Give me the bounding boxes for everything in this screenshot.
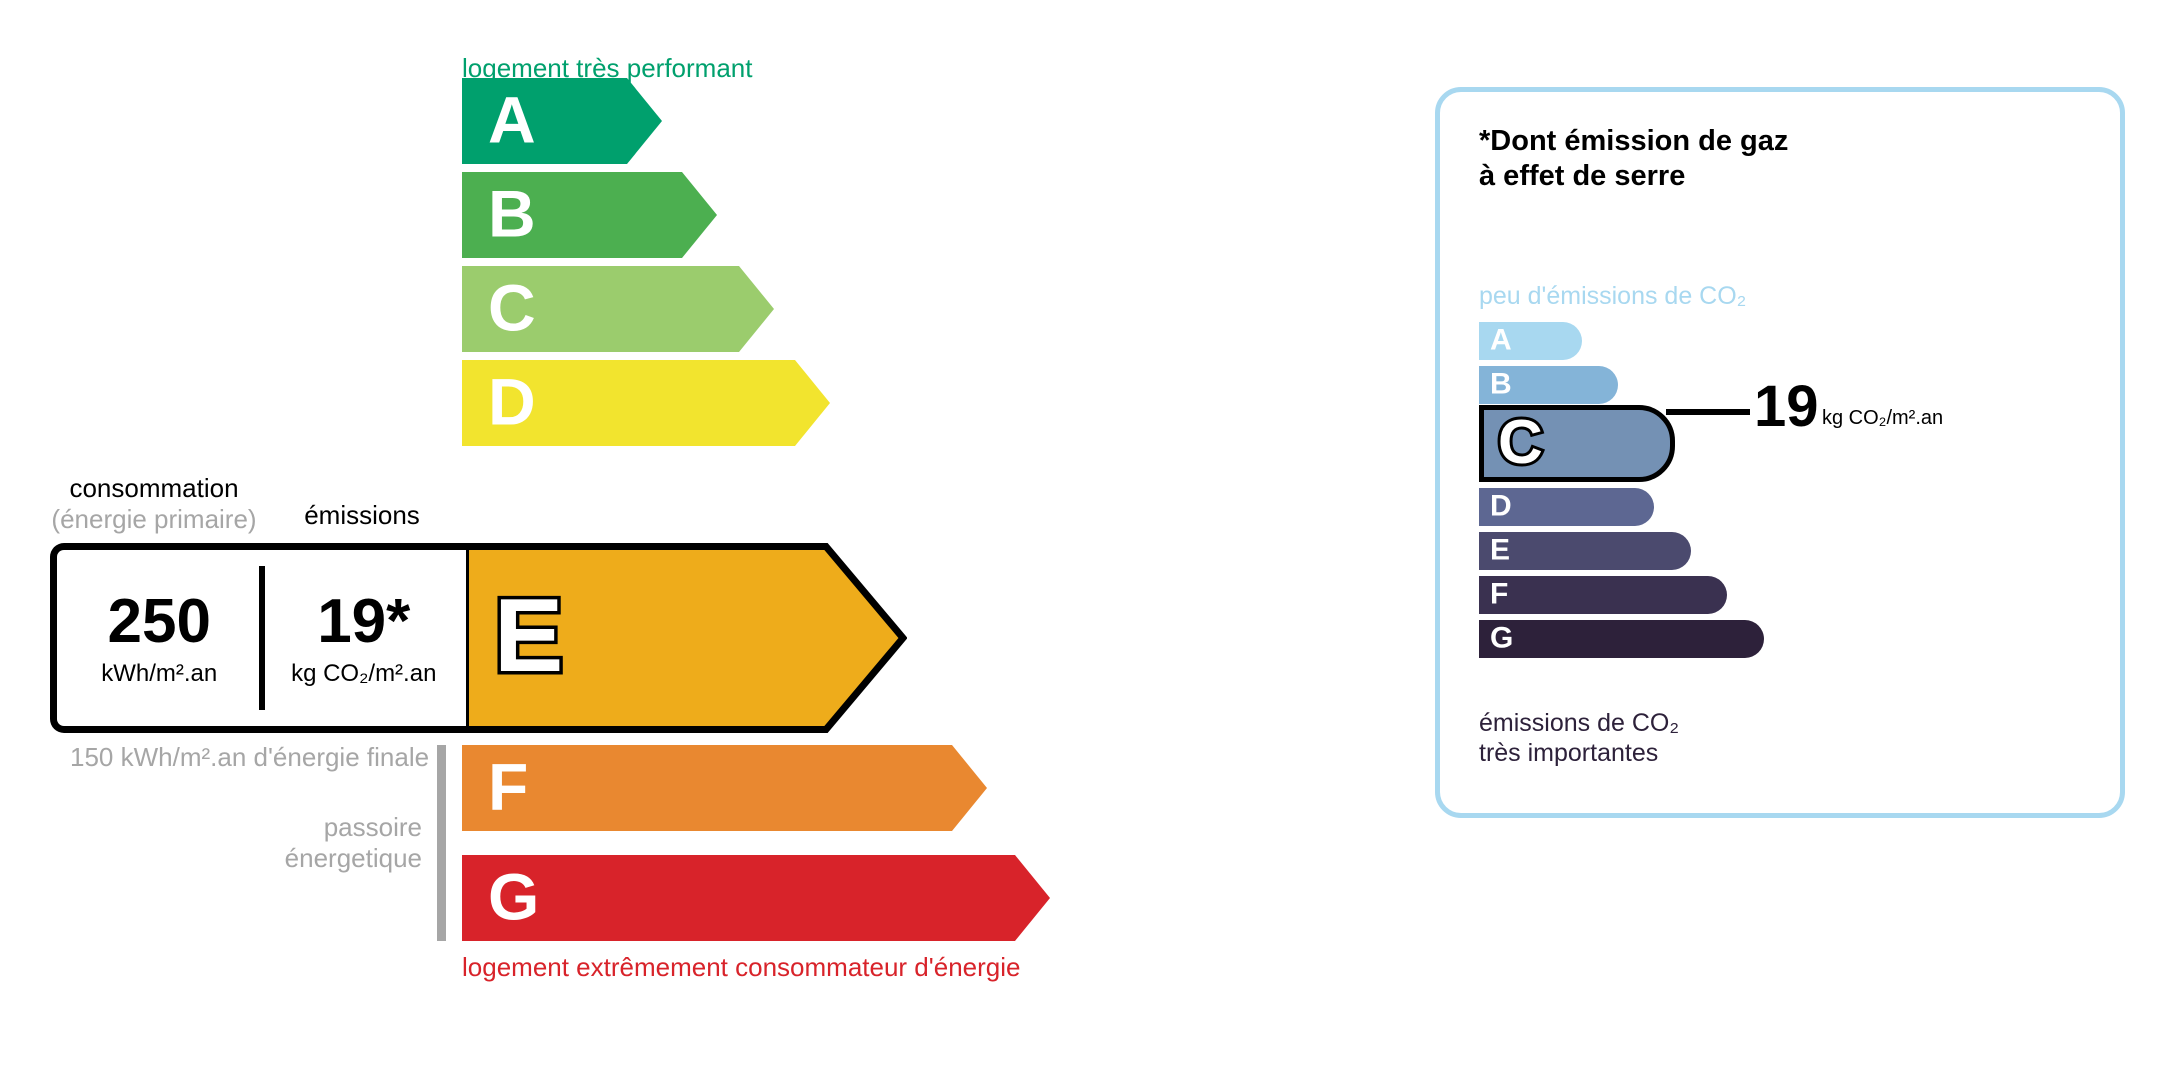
- co2-bar-g: G: [1479, 620, 1764, 658]
- energy-bar-a: A: [462, 78, 662, 164]
- co2-panel-title: *Dont émission de gaz à effet de serre: [1479, 124, 1788, 195]
- co2-bar-letter-f: F: [1490, 579, 1508, 609]
- passoire-divider: [437, 745, 446, 941]
- co2-bar-row-c: C: [1479, 405, 1675, 482]
- consumption-value-cell: 250 kWh/m².an: [57, 550, 262, 726]
- energy-bar-letter-b: B: [488, 181, 536, 247]
- co2-bar-letter-a: A: [1490, 325, 1512, 355]
- co2-bar-letter-c: C: [1498, 411, 1543, 473]
- co2-bottom-caption: émissions de CO₂ très importantes: [1479, 708, 1679, 768]
- energy-bar-row-c: C: [462, 266, 774, 352]
- co2-bar-letter-d: D: [1490, 491, 1512, 521]
- co2-top-caption: peu d'émissions de CO₂: [1479, 282, 1746, 311]
- co2-bar-letter-g: G: [1490, 623, 1513, 653]
- co2-bar-c-selected: C: [1479, 405, 1675, 482]
- co2-bar-row-e: E: [1479, 532, 1691, 570]
- co2-bar-row-a: A: [1479, 322, 1582, 360]
- emissions-value-cell: 19* kg CO₂/m².an: [262, 550, 467, 726]
- energy-bottom-caption: logement extrêmement consommateur d'éner…: [462, 952, 1020, 983]
- co2-bar-row-f: F: [1479, 576, 1727, 614]
- co2-callout-line: [1666, 409, 1750, 415]
- energy-bar-f: F: [462, 745, 987, 831]
- co2-bar-letter-b: B: [1490, 369, 1512, 399]
- energy-bar-letter-g: G: [488, 864, 539, 930]
- co2-bar-f: F: [1479, 576, 1727, 614]
- value-box: 250 kWh/m².an 19* kg CO₂/m².an: [50, 543, 466, 733]
- emissions-label: émissions: [258, 500, 466, 531]
- energy-bar-letter-a: A: [488, 87, 536, 153]
- consumption-label-main: consommation: [69, 473, 238, 503]
- co2-bar-letter-e: E: [1490, 535, 1510, 565]
- co2-callout-value: 19: [1754, 378, 1819, 436]
- dpe-diagram: logement très performant A B C: [0, 0, 2169, 1079]
- energy-bar-letter-d: D: [488, 369, 536, 435]
- co2-bar-row-d: D: [1479, 488, 1654, 526]
- co2-bar-row-g: G: [1479, 620, 1764, 658]
- co2-panel: *Dont émission de gaz à effet de serre p…: [1435, 87, 2125, 818]
- energy-bar-row-a: A: [462, 78, 662, 164]
- energy-bar-c: C: [462, 266, 774, 352]
- energy-bar-e-selected: E: [462, 543, 907, 733]
- energy-bar-row-g: G: [462, 855, 1050, 941]
- energy-bar-row-d: D: [462, 360, 830, 446]
- consumption-unit: kWh/m².an: [101, 662, 217, 686]
- consumption-label: consommation (énergie primaire): [50, 473, 258, 535]
- co2-bar-row-b: B: [1479, 366, 1618, 404]
- final-energy-note: 150 kWh/m².an d'énergie finale: [70, 742, 429, 773]
- energy-bar-row-f: F: [462, 745, 987, 831]
- co2-callout-unit: kg CO₂/m².an: [1822, 408, 1943, 428]
- co2-bar-d: D: [1479, 488, 1654, 526]
- energy-bar-letter-e: E: [494, 584, 563, 688]
- energy-bar-b: B: [462, 172, 717, 258]
- energy-bar-letter-f: F: [488, 754, 528, 820]
- emissions-unit: kg CO₂/m².an: [291, 662, 436, 686]
- co2-bar-e: E: [1479, 532, 1691, 570]
- co2-bar-b: B: [1479, 366, 1618, 404]
- energy-bar-d: D: [462, 360, 830, 446]
- consumption-value: 250: [108, 591, 211, 653]
- passoire-label: passoire énergetique: [200, 812, 422, 873]
- consumption-label-sub: (énergie primaire): [50, 504, 258, 535]
- emissions-value: 19*: [317, 591, 410, 653]
- energy-bar-letter-c: C: [488, 275, 536, 341]
- energy-bar-row-e: E: [462, 543, 907, 733]
- energy-bar-g: G: [462, 855, 1050, 941]
- co2-bar-a: A: [1479, 322, 1582, 360]
- energy-bar-row-b: B: [462, 172, 717, 258]
